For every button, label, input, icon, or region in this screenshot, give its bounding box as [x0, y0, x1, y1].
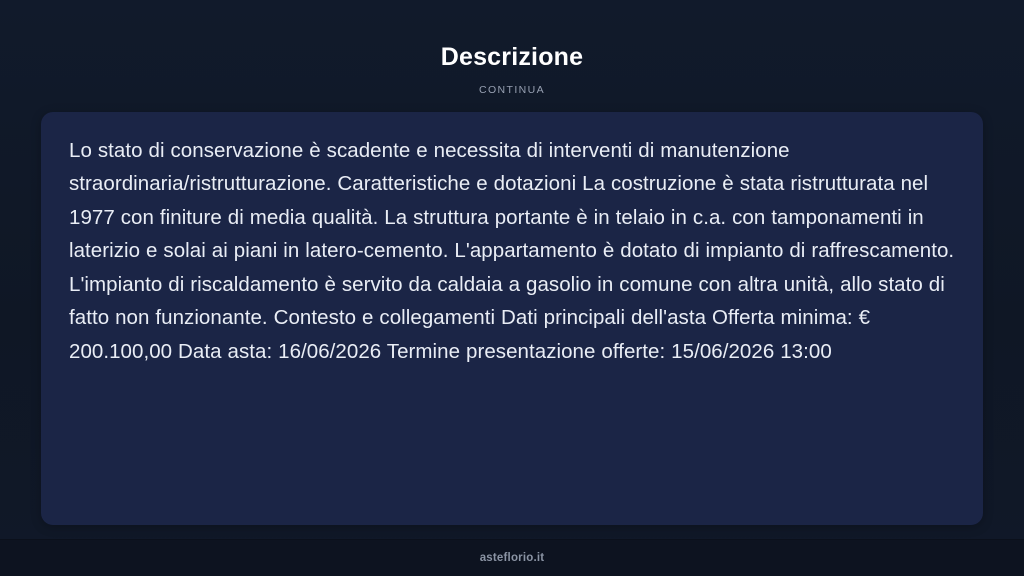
continua-label: CONTINUA — [479, 84, 545, 96]
description-body-text: Lo stato di conservazione è scadente e n… — [69, 134, 955, 369]
slide-content: Descrizione CONTINUA Lo stato di conserv… — [0, 0, 1024, 539]
footer-bar: asteflorio.it — [0, 539, 1024, 576]
page-title: Descrizione — [441, 44, 584, 72]
description-card: Lo stato di conservazione è scadente e n… — [41, 112, 983, 525]
slide-screen: Descrizione CONTINUA Lo stato di conserv… — [0, 0, 1024, 576]
footer-site-label: asteflorio.it — [480, 552, 545, 564]
